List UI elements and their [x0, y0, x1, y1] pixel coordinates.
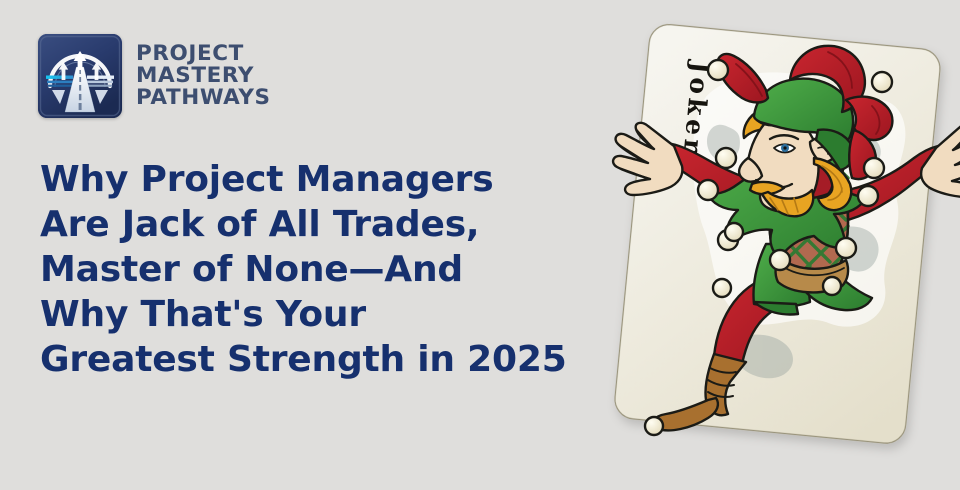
blog-header-banner: PROJECT MASTERY PATHWAYS Why Project Man… — [0, 0, 960, 490]
joker-card-illustration: Joker Joker — [596, 8, 960, 490]
collar-bell-left-outer — [698, 180, 718, 200]
headline-line-3: Master of None—And — [40, 247, 620, 292]
hat-bell-right-lower — [864, 158, 884, 178]
waist-bell-centre — [770, 250, 790, 270]
hat-bell-top-right — [872, 72, 892, 92]
headline-line-1: Why Project Managers — [40, 157, 620, 202]
brand-logo[interactable]: PROJECT MASTERY PATHWAYS — [38, 34, 271, 118]
brand-line-1: PROJECT — [136, 43, 271, 65]
headline-line-4: Why That's Your — [40, 292, 620, 337]
brand-line-2: MASTERY — [136, 65, 271, 87]
headline-line-5: Greatest Strength in 2025 — [40, 337, 620, 382]
headline-line-2: Are Jack of All Trades, — [40, 202, 620, 247]
hat-bell-left — [708, 60, 728, 80]
collar-bell-right-lower — [836, 238, 856, 258]
page-title: Why Project Managers Are Jack of All Tra… — [40, 157, 620, 382]
leg-bell-upper — [725, 223, 743, 241]
boot-bell — [645, 417, 663, 435]
leg-bell-lower — [713, 279, 731, 297]
collar-bell-left-upper — [716, 148, 736, 168]
collar-bell-right-outer — [858, 186, 878, 206]
logo-mark-icon — [38, 34, 122, 118]
brand-line-3: PATHWAYS — [136, 87, 271, 109]
skirt-bell-right — [823, 277, 841, 295]
brand-wordmark: PROJECT MASTERY PATHWAYS — [136, 43, 271, 109]
